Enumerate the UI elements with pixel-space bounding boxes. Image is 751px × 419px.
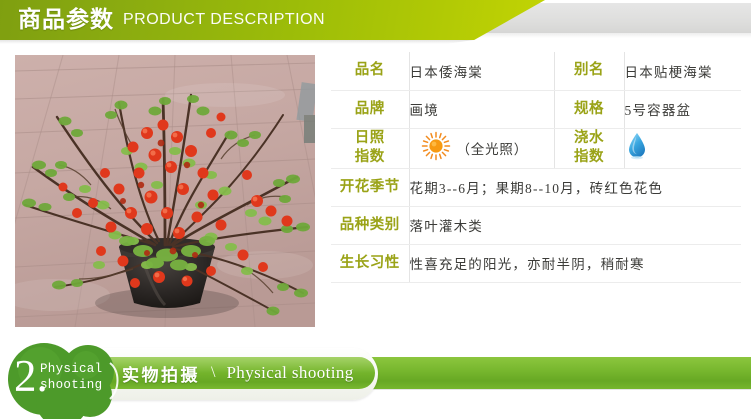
table-row: 品种类别 落叶灌木类 bbox=[331, 206, 741, 244]
footer-label-en: Physical shooting bbox=[226, 363, 353, 383]
spec-label-watering-index: 浇水 指数 bbox=[554, 128, 624, 168]
spec-value-product-name: 日本倭海棠 bbox=[409, 52, 554, 90]
spec-value-sunlight-index: （全光照） bbox=[409, 128, 554, 168]
page-title-cn: 商品参数 bbox=[18, 8, 114, 33]
badge-caption: Physical shooting bbox=[40, 361, 102, 393]
spec-label-flowering-season: 开花季节 bbox=[331, 168, 409, 206]
table-row: 日照 指数 bbox=[331, 128, 741, 168]
spec-label-sunlight-index-line1: 日照 bbox=[331, 129, 409, 149]
section-number-badge: 2. Physical shooting bbox=[2, 341, 132, 419]
spec-label-watering-index-line1: 浇水 bbox=[555, 129, 624, 149]
spec-label-brand: 品牌 bbox=[331, 90, 409, 128]
product-spec-table: 品名 日本倭海棠 别名 日本贴梗海棠 品牌 画境 规格 5号容器盆 日照 指数 bbox=[331, 52, 741, 283]
footer-label-separator: \ bbox=[211, 364, 215, 382]
table-row: 开花季节 花期3--6月；果期8--10月，砖红色花色 bbox=[331, 168, 741, 206]
water-drop-icon bbox=[625, 149, 649, 164]
spec-value-sunlight-note: （全光照） bbox=[457, 138, 529, 158]
spec-label-alias: 别名 bbox=[554, 52, 624, 90]
spec-value-alias: 日本贴梗海棠 bbox=[624, 52, 741, 90]
product-photo bbox=[15, 55, 315, 327]
spec-value-flowering-season: 花期3--6月；果期8--10月，砖红色花色 bbox=[409, 168, 741, 206]
footer-label-group: 实物拍摄 \ Physical shooting bbox=[122, 357, 354, 389]
spec-label-watering-index-line2: 指数 bbox=[555, 148, 624, 168]
sunlight-icon-cell: （全光照） bbox=[410, 131, 554, 165]
table-row: 品牌 画境 规格 5号容器盆 bbox=[331, 90, 741, 128]
page-title-en: PRODUCT DESCRIPTION bbox=[123, 12, 325, 29]
spec-label-product-name: 品名 bbox=[331, 52, 409, 90]
section-footer: 实物拍摄 \ Physical shooting 2. Phy bbox=[0, 340, 751, 419]
spec-label-growth-habit: 生长习性 bbox=[331, 244, 409, 282]
table-row: 生长习性 性喜充足的阳光，亦耐半阴，稍耐寒 bbox=[331, 244, 741, 282]
spec-value-growth-habit: 性喜充足的阳光，亦耐半阴，稍耐寒 bbox=[409, 244, 741, 282]
spec-label-variety-category: 品种类别 bbox=[331, 206, 409, 244]
spec-value-brand: 画境 bbox=[409, 90, 554, 128]
header-green-shadow bbox=[0, 40, 474, 44]
table-row: 品名 日本倭海棠 别名 日本贴梗海棠 bbox=[331, 52, 741, 90]
spec-label-specification: 规格 bbox=[554, 90, 624, 128]
spec-value-variety-category: 落叶灌木类 bbox=[409, 206, 741, 244]
spec-value-specification: 5号容器盆 bbox=[624, 90, 741, 128]
footer-label-cn: 实物拍摄 bbox=[122, 361, 200, 386]
spec-label-sunlight-index-line2: 指数 bbox=[331, 148, 409, 168]
spec-label-sunlight-index: 日照 指数 bbox=[331, 128, 409, 168]
sun-icon bbox=[421, 131, 451, 165]
badge-caption-line1: Physical bbox=[40, 361, 102, 377]
page-header: 商品参数 PRODUCT DESCRIPTION bbox=[0, 0, 751, 42]
spec-value-watering-index bbox=[624, 128, 741, 168]
badge-caption-line2: shooting bbox=[40, 377, 102, 393]
header-title-group: 商品参数 PRODUCT DESCRIPTION bbox=[18, 0, 325, 40]
product-description-page: 商品参数 PRODUCT DESCRIPTION bbox=[0, 0, 751, 419]
